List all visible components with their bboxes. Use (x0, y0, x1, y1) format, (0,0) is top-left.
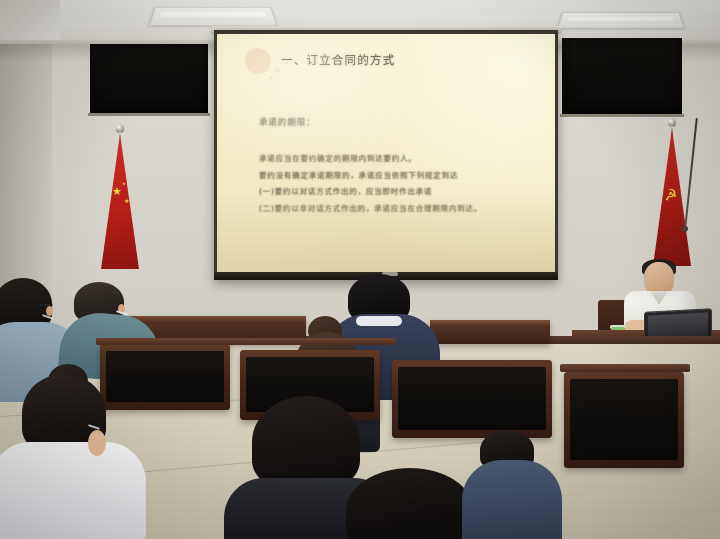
ceiling-light-left (149, 7, 278, 26)
hammer-and-sickle-icon: ☭ (663, 187, 678, 204)
dark-panel-right (562, 38, 682, 116)
ceiling-light-right (557, 12, 685, 28)
slide-body: 承诺应当在要约确定的期限内到达要约人。 要约没有确定承诺期限的，承诺应当依照下列… (259, 151, 549, 217)
attendee-top (462, 460, 562, 539)
bench-row-left (100, 344, 230, 410)
flag-star-large-icon: ★ (112, 186, 122, 197)
attendee-shirt (0, 442, 146, 539)
slide-body-line: (二)要约以非对话方式作出的，承诺应当在合理期限内到达。 (259, 201, 549, 218)
presentation-slide: 一、订立合同的方式 承诺的期限： 承诺应当在要约确定的期限内到达要约人。 要约没… (217, 34, 555, 272)
bench-seat-back (398, 367, 546, 430)
dark-panel-left-trim (88, 113, 210, 116)
bench-seat-back (106, 351, 224, 402)
slide-decor-dot-icon (269, 76, 272, 79)
projection-screen: 一、订立合同的方式 承诺的期限： 承诺应当在要约确定的期限内到达要约人。 要约没… (214, 30, 558, 280)
bench-seat-back (570, 379, 678, 460)
classroom-photo-scene: 一、订立合同的方式 承诺的期限： 承诺应当在要约确定的期限内到达要约人。 要约没… (0, 0, 720, 539)
slide-body-line: 承诺应当在要约确定的期限内到达要约人。 (259, 151, 549, 168)
dark-panel-right-trim (560, 114, 684, 117)
slide-title: 一、订立合同的方式 (281, 52, 395, 68)
attendee-ear (46, 306, 53, 316)
flag-star-small-icon: ★ (122, 182, 126, 186)
slide-decor-circle-icon (245, 48, 271, 74)
slide-body-line: 要约没有确定承诺期限的，承诺应当依照下列规定到达 (259, 168, 549, 185)
bench-rail (560, 364, 690, 372)
desk-row-back-right (430, 320, 550, 344)
dark-panel-left (90, 44, 208, 115)
bench-rail (96, 338, 396, 345)
slide-decor-dot-icon (275, 68, 280, 73)
slide-body-line: (一)要约以对话方式作出的，应当即时作出承诺 (259, 184, 549, 201)
attendee-hair (252, 396, 360, 488)
bench-row-right (392, 360, 552, 438)
attendee-face-edge (88, 430, 106, 456)
glasses-arm (40, 304, 53, 306)
flag-star-small-icon: ★ (124, 199, 129, 205)
bench-row-far-right (564, 372, 684, 468)
desk-row-top-edge (430, 320, 550, 325)
attendee-collar (356, 316, 402, 326)
slide-subtitle: 承诺的期限： (259, 116, 315, 128)
